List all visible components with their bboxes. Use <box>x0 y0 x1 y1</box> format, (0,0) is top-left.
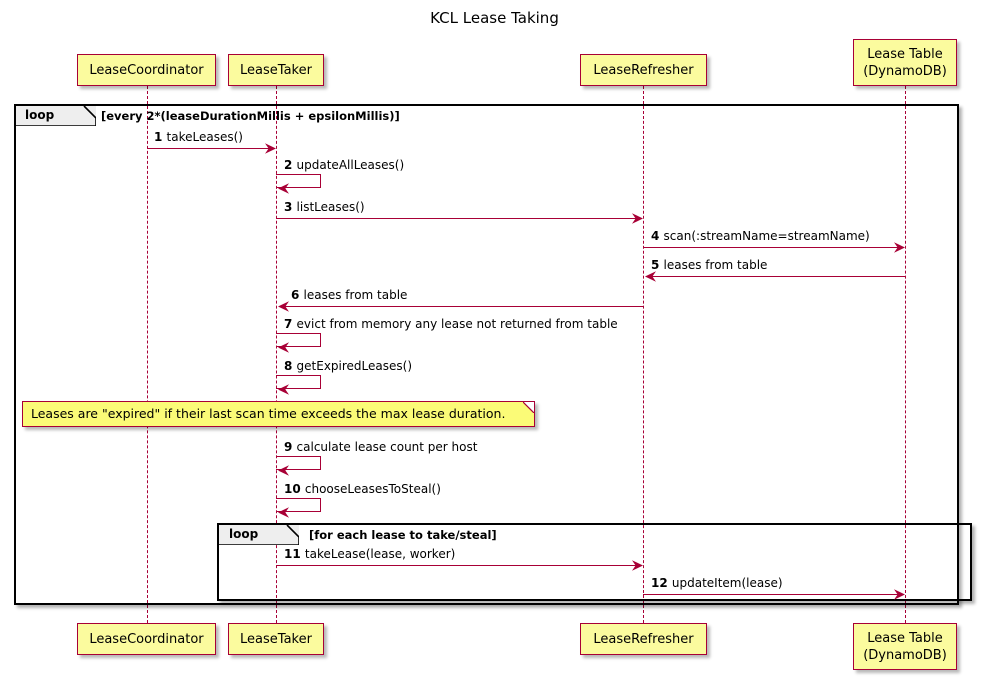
group-label-inner-loop: loop <box>229 527 258 541</box>
message-6-number: 6 <box>291 288 304 302</box>
message-12-text: updateItem(lease) <box>672 576 783 590</box>
message-5-label: 5 leases from table <box>651 258 767 272</box>
participant-lease-taker-bottom[interactable]: LeaseTaker <box>228 623 324 655</box>
message-11-arrowhead <box>631 559 644 572</box>
expired-lease-note-text: Leases are "expired" if their last scan … <box>31 406 505 421</box>
message-1-line <box>147 148 270 149</box>
message-4-text: scan(:streamName=streamName) <box>664 229 870 243</box>
participant-lease-table-top-label: Lease Table (DynamoDB) <box>863 46 947 80</box>
message-12-label: 12 updateItem(lease) <box>651 576 783 590</box>
message-12-number: 12 <box>651 576 672 590</box>
message-6-text: leases from table <box>304 288 408 302</box>
participant-lease-taker-top[interactable]: LeaseTaker <box>228 54 324 86</box>
message-3-text: listLeases() <box>297 200 365 214</box>
participant-lease-table-bottom[interactable]: Lease Table (DynamoDB) <box>853 623 957 670</box>
group-condition-outer-loop: [every 2*(leaseDurationMillis + epsilonM… <box>101 109 400 123</box>
message-7-number: 7 <box>284 317 297 331</box>
group-condition-inner-loop: [for each lease to take/steal] <box>309 528 497 542</box>
participant-lease-table-top[interactable]: Lease Table (DynamoDB) <box>853 39 957 86</box>
sequence-diagram-canvas: KCL Lease Taking loop [every 2*(leaseDur… <box>0 0 989 681</box>
message-3-label: 3 listLeases() <box>284 200 365 214</box>
message-8-label: 8 getExpiredLeases() <box>284 359 412 373</box>
message-2-number: 2 <box>284 158 297 172</box>
message-12-arrowhead <box>893 588 906 601</box>
message-7-text: evict from memory any lease not returned… <box>297 317 618 331</box>
message-1-label: 1 takeLeases() <box>154 130 243 144</box>
message-11-line <box>276 565 637 566</box>
message-1-text: takeLeases() <box>167 130 243 144</box>
message-9-label: 9 calculate lease count per host <box>284 440 477 454</box>
message-10-number: 10 <box>284 482 305 496</box>
participant-lease-taker-top-label: LeaseTaker <box>240 63 312 78</box>
participant-lease-taker-bottom-label: LeaseTaker <box>240 632 312 647</box>
participant-lease-refresher-bottom[interactable]: LeaseRefresher <box>580 623 707 655</box>
participant-lease-coordinator-top[interactable]: LeaseCoordinator <box>77 54 216 86</box>
message-5-line <box>649 276 905 277</box>
message-10-arrowhead <box>277 506 290 519</box>
message-10-label: 10 chooseLeasesToSteal() <box>284 482 441 496</box>
message-4-line <box>643 247 899 248</box>
message-4-arrowhead <box>893 241 906 254</box>
message-11-label: 11 takeLease(lease, worker) <box>284 547 455 561</box>
message-4-number: 4 <box>651 229 664 243</box>
message-11-text: takeLease(lease, worker) <box>305 547 455 561</box>
message-8-text: getExpiredLeases() <box>297 359 412 373</box>
message-1-number: 1 <box>154 130 167 144</box>
participant-lease-coordinator-top-label: LeaseCoordinator <box>89 63 203 78</box>
message-11-number: 11 <box>284 547 305 561</box>
message-7-arrowhead <box>277 341 290 354</box>
participant-lease-refresher-top[interactable]: LeaseRefresher <box>580 54 707 86</box>
message-6-label: 6 leases from table <box>291 288 407 302</box>
group-label-outer-loop: loop <box>25 108 54 122</box>
message-3-number: 3 <box>284 200 297 214</box>
message-8-arrowhead <box>277 383 290 396</box>
message-12-line <box>643 594 899 595</box>
message-6-arrowhead <box>277 300 290 313</box>
message-1-arrowhead <box>264 142 277 155</box>
message-10-text: chooseLeasesToSteal() <box>305 482 441 496</box>
message-2-text: updateAllLeases() <box>297 158 405 172</box>
participant-lease-coordinator-bottom[interactable]: LeaseCoordinator <box>77 623 216 655</box>
message-9-text: calculate lease count per host <box>297 440 478 454</box>
participant-lease-refresher-top-label: LeaseRefresher <box>593 63 693 78</box>
message-2-arrowhead <box>277 182 290 195</box>
message-9-number: 9 <box>284 440 297 454</box>
message-5-text: leases from table <box>664 258 768 272</box>
message-5-arrowhead <box>644 270 657 283</box>
expired-lease-note: Leases are "expired" if their last scan … <box>22 401 535 427</box>
message-3-arrowhead <box>631 212 644 225</box>
message-8-number: 8 <box>284 359 297 373</box>
participant-lease-coordinator-bottom-label: LeaseCoordinator <box>89 632 203 647</box>
message-2-label: 2 updateAllLeases() <box>284 158 404 172</box>
message-4-label: 4 scan(:streamName=streamName) <box>651 229 870 243</box>
participant-lease-refresher-bottom-label: LeaseRefresher <box>593 632 693 647</box>
message-3-line <box>276 218 637 219</box>
participant-lease-table-bottom-label: Lease Table (DynamoDB) <box>863 630 947 664</box>
note-fold-corner-icon <box>523 402 534 413</box>
message-6-line <box>282 306 643 307</box>
message-7-label: 7 evict from memory any lease not return… <box>284 317 618 331</box>
message-9-arrowhead <box>277 464 290 477</box>
page-title: KCL Lease Taking <box>0 9 989 27</box>
